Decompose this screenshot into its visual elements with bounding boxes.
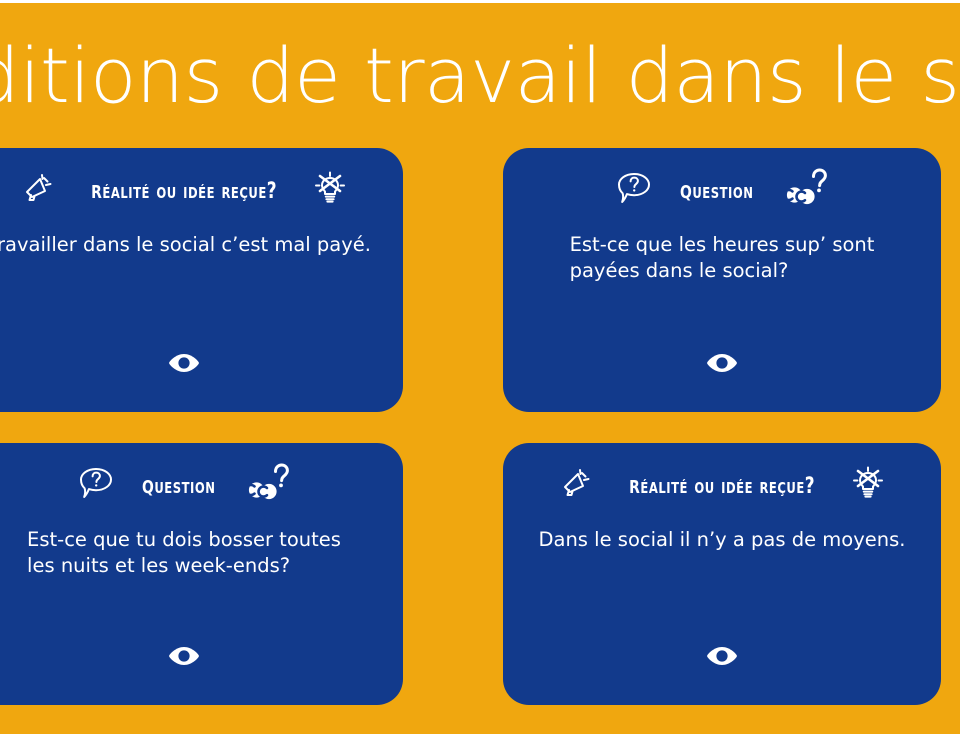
card-heading: Question [680, 175, 754, 205]
card-body: Est-ce que les heures sup’ sont payées d… [503, 232, 941, 318]
card-question-1[interactable]: Question Est-ce que le [503, 148, 941, 412]
card-reality-1[interactable]: Réalité ou idée reçue? [0, 148, 403, 412]
eye-icon[interactable] [168, 646, 200, 671]
card-body-text: Est-ce que les heures sup’ sont payées d… [570, 232, 875, 285]
card-reality-2[interactable]: Réalité ou idée reçue? [503, 443, 941, 705]
card-header: Réalité ou idée reçue? [0, 148, 403, 232]
eye-icon[interactable] [168, 353, 200, 378]
card-footer [0, 353, 403, 378]
card-header: Question [0, 443, 403, 527]
card-header: Question [503, 148, 941, 232]
card-body: Est-ce que tu dois bosser toutes les nui… [0, 527, 403, 613]
card-heading: Question [142, 470, 216, 500]
card-heading: Réalité ou idée reçue? [91, 175, 277, 205]
card-heading: Réalité ou idée reçue? [629, 470, 815, 500]
card-body-text: Dans le social il n’y a pas de moyens. [538, 527, 905, 553]
card-header: Réalité ou idée reçue? [503, 443, 941, 527]
card-grid: Réalité ou idée reçue? [0, 148, 960, 706]
card-question-2[interactable]: Question Est-ce que tu [0, 443, 403, 705]
megaphone-icon [560, 467, 592, 504]
megaphone-icon [22, 172, 54, 209]
speech-bubble-question-icon [616, 171, 652, 210]
card-body: Dans le social il n’y a pas de moyens. [503, 527, 941, 613]
card-body-text: Est-ce que tu dois bosser toutes les nui… [27, 527, 341, 580]
card-footer [503, 353, 941, 378]
crossed-lightbulb-icon [314, 171, 346, 210]
card-footer [503, 646, 941, 671]
page-root: onditions de travail dans le s Réalité o… [0, 0, 960, 734]
eyes-question-icon [244, 462, 290, 509]
card-body: ravailler dans le social c’est mal payé. [0, 232, 403, 318]
eyes-question-icon [782, 167, 828, 214]
card-body-text: ravailler dans le social c’est mal payé. [0, 232, 371, 258]
top-white-strip [0, 0, 960, 3]
page-title: onditions de travail dans le s [0, 26, 960, 126]
speech-bubble-question-icon [78, 466, 114, 505]
eye-icon[interactable] [706, 353, 738, 378]
card-footer [0, 646, 403, 671]
crossed-lightbulb-icon [852, 466, 884, 505]
eye-icon[interactable] [706, 646, 738, 671]
